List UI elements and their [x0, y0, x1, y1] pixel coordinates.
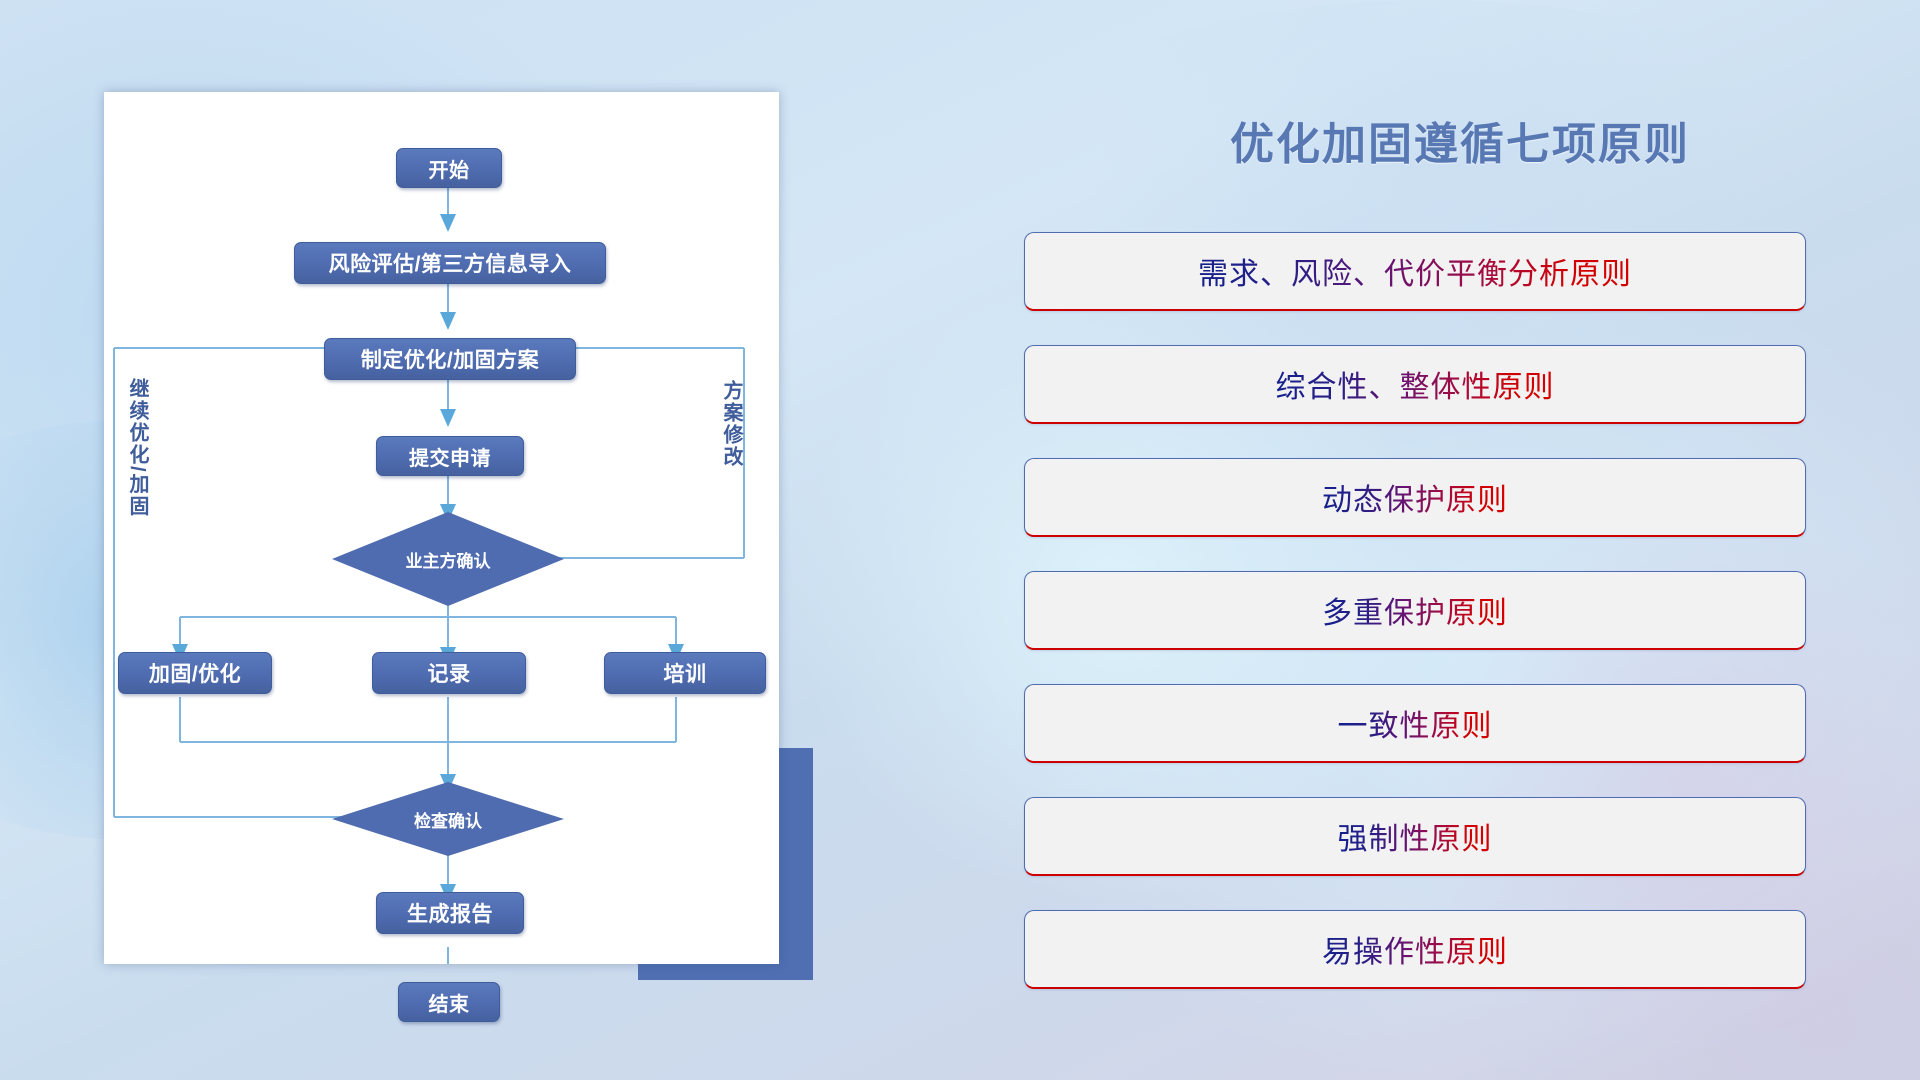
flow-node-plan[interactable]: 制定优化/加固方案	[324, 338, 576, 380]
slide-canvas: 开始 风险评估/第三方信息导入 制定优化/加固方案 提交申请 业主方确认 加固/…	[0, 0, 1920, 1080]
principle-item-1[interactable]: 需求、风险、代价平衡分析原则	[1024, 232, 1806, 311]
flow-node-training[interactable]: 培训	[604, 652, 766, 694]
flow-node-owner-confirm[interactable]: 业主方确认	[332, 512, 564, 606]
flow-node-label: 开始	[429, 154, 470, 183]
flowchart-card: 开始 风险评估/第三方信息导入 制定优化/加固方案 提交申请 业主方确认 加固/…	[104, 92, 779, 964]
flow-node-end[interactable]: 结束	[398, 982, 500, 1022]
principle-label: 一致性原则	[1338, 701, 1493, 745]
principle-label: 需求、风险、代价平衡分析原则	[1198, 249, 1632, 293]
flow-node-label: 加固/优化	[149, 658, 241, 688]
principle-label: 易操作性原则	[1322, 927, 1508, 971]
flow-node-check-confirm[interactable]: 检查确认	[332, 782, 564, 856]
principle-item-2[interactable]: 综合性、整体性原则	[1024, 345, 1806, 424]
principle-label: 多重保护原则	[1322, 588, 1508, 632]
principle-item-5[interactable]: 一致性原则	[1024, 684, 1806, 763]
flow-node-record[interactable]: 记录	[372, 652, 526, 694]
flow-node-label: 检查确认	[414, 807, 482, 832]
flow-node-label: 培训	[664, 658, 707, 688]
flow-node-reinforce[interactable]: 加固/优化	[118, 652, 272, 694]
flow-node-label: 业主方确认	[406, 547, 491, 572]
flow-node-report[interactable]: 生成报告	[376, 892, 524, 934]
flow-node-label: 结束	[429, 988, 470, 1017]
principle-item-6[interactable]: 强制性原则	[1024, 797, 1806, 876]
principle-item-4[interactable]: 多重保护原则	[1024, 571, 1806, 650]
principle-label: 强制性原则	[1338, 814, 1493, 858]
flow-node-label: 风险评估/第三方信息导入	[329, 248, 572, 278]
flow-node-label: 生成报告	[407, 898, 493, 928]
principles-list: 需求、风险、代价平衡分析原则 综合性、整体性原则 动态保护原则 多重保护原则 一…	[1024, 232, 1806, 989]
flow-node-start[interactable]: 开始	[396, 148, 502, 188]
principle-label: 动态保护原则	[1322, 475, 1508, 519]
flow-node-risk-assessment[interactable]: 风险评估/第三方信息导入	[294, 242, 606, 284]
flow-node-label: 记录	[428, 658, 471, 688]
flow-node-submit[interactable]: 提交申请	[376, 436, 524, 476]
flow-node-label: 提交申请	[409, 442, 491, 471]
principle-item-7[interactable]: 易操作性原则	[1024, 910, 1806, 989]
edge-label-plan-revision: 方案修改	[720, 380, 741, 468]
edge-label-continue-optimize: 继续优化/加固	[126, 378, 147, 518]
principle-label: 综合性、整体性原则	[1276, 362, 1555, 406]
principle-item-3[interactable]: 动态保护原则	[1024, 458, 1806, 537]
page-title: 优化加固遵循七项原则	[1150, 108, 1770, 172]
flow-node-label: 制定优化/加固方案	[361, 344, 539, 374]
